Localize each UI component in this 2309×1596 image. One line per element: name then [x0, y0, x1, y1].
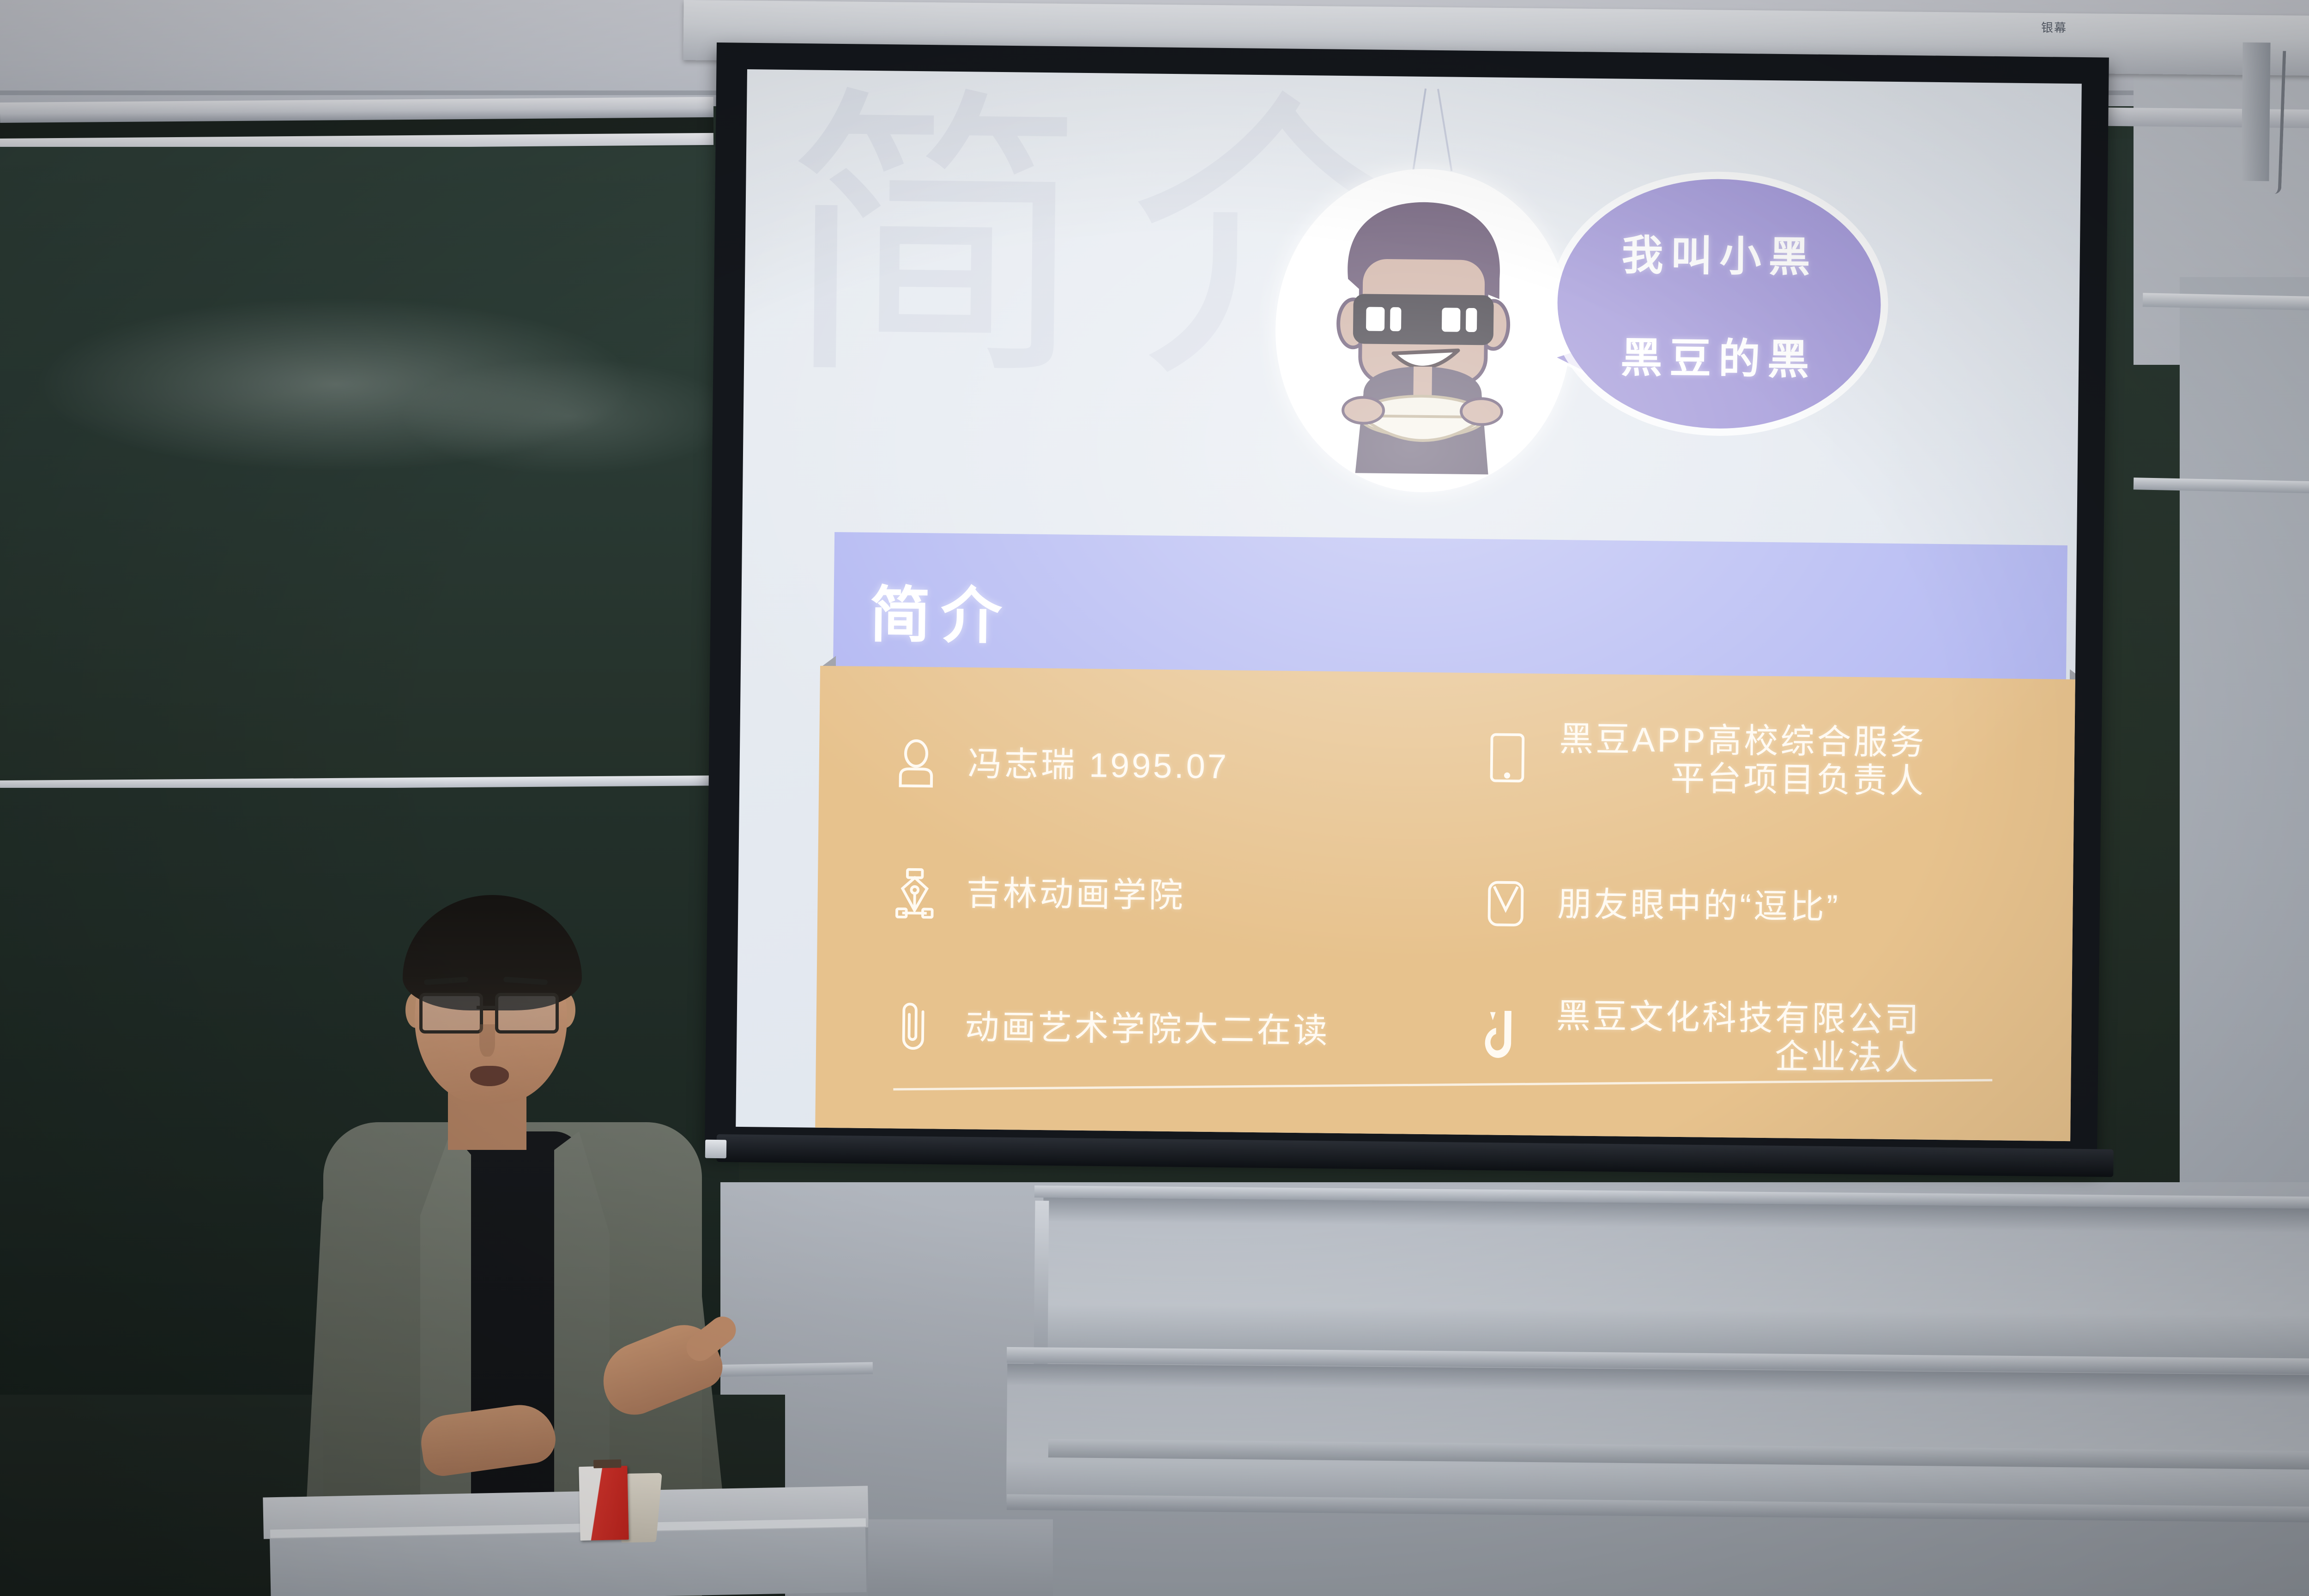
presenter-mouth — [470, 1066, 509, 1086]
projector-screen-brand-label: 银幕 — [2041, 18, 2067, 36]
section-banner: 简介 — [833, 532, 2067, 682]
presenter — [296, 845, 840, 1596]
chalkboard-left — [0, 147, 730, 789]
projected-slide: 简介 — [736, 69, 2082, 1141]
wall-panel-recess-2 — [1006, 1364, 2309, 1514]
heidou-d-logo-icon — [1480, 1007, 1529, 1062]
eyeglasses-lens-left — [419, 993, 483, 1034]
presenter-nose — [479, 1024, 495, 1057]
info-row: 冯志瑞 1995.07 — [892, 736, 1437, 796]
info-row: 动画艺术学院大二在读 — [889, 999, 1434, 1059]
panel-frame-left — [1034, 1201, 1049, 1367]
screenshot-root: 银幕 简介 — [0, 0, 2309, 1596]
info-row-text: 黑豆文化科技有限公司 企业法人 — [1556, 997, 1922, 1077]
desk-right-segment — [868, 1519, 1053, 1596]
info-row-text: 朋友眼中的“逗比” — [1557, 885, 1840, 926]
info-row: 黑豆APP高校综合服务 平台项目负责人 — [1483, 719, 2056, 802]
chevron-box-icon — [1481, 876, 1530, 931]
info-row: 黑豆文化科技有限公司 企业法人 — [1480, 996, 2054, 1079]
tablet-icon — [1483, 730, 1531, 785]
cartoon-boy-with-sunglasses-avatar — [1274, 167, 1573, 494]
info-columns: 冯志瑞 1995.07 — [736, 665, 2075, 1141]
info-row-text: 动画艺术学院大二在读 — [965, 1008, 1330, 1050]
speech-bubble: 我叫小黑 黑豆的黑 — [1556, 177, 1882, 430]
wall-panel-recess-1 — [1042, 1197, 2309, 1362]
wall-right-lower — [2180, 277, 2309, 1293]
eyeglasses-bridge — [477, 1006, 495, 1009]
eyeglasses-lens-right — [495, 993, 559, 1034]
info-row-text: 黑豆APP高校综合服务 平台项目负责人 — [1559, 720, 1927, 800]
pen-nib-icon — [890, 865, 939, 920]
speech-bubble-line-2: 黑豆的黑 — [1620, 324, 1817, 387]
info-row-text: 吉林动画学院 — [966, 874, 1185, 915]
paperclip-icon — [889, 999, 937, 1054]
section-title: 简介 — [869, 566, 1012, 655]
person-icon — [892, 736, 940, 791]
speech-bubble-line-1: 我叫小黑 — [1621, 222, 1818, 284]
info-row-text: 冯志瑞 1995.07 — [967, 745, 1229, 786]
info-row: 吉林动画学院 — [890, 865, 1436, 925]
info-row: 朋友眼中的“逗比” — [1481, 876, 2055, 937]
red-white-carton — [579, 1466, 629, 1541]
screen-mount-bracket — [2241, 42, 2270, 181]
